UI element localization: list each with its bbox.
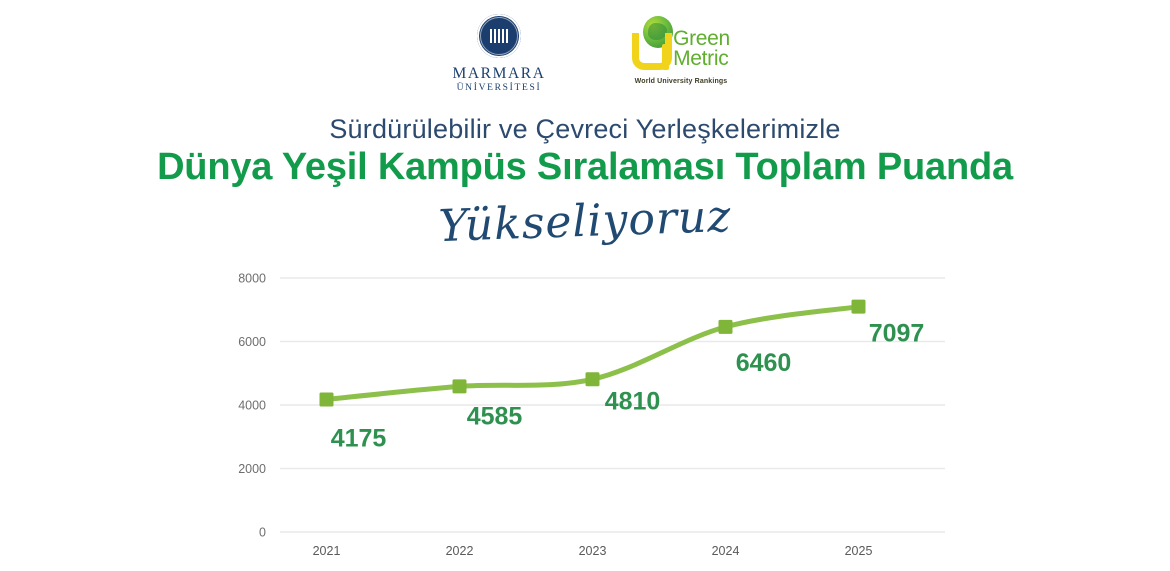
seal-emblem-icon [490,29,508,43]
ui-greenmetric-logo: Green Metric World University Rankings [616,14,746,85]
poster-canvas: MARMARA ÜNİVERSİTESİ Green Metric World … [0,0,1170,571]
chart-xtick-labels: 20212022202320242025 [313,544,873,558]
x-axis-tick-label: 2025 [845,544,873,558]
y-axis-tick-label: 4000 [238,399,266,413]
x-axis-tick-label: 2023 [579,544,607,558]
data-point-label: 4810 [605,387,661,415]
data-point-marker [453,379,467,393]
y-axis-tick-label: 6000 [238,335,266,349]
greenmetric-tagline: World University Rankings [635,78,728,85]
greenmetric-word-metric: Metric [673,49,730,68]
data-point-marker [586,372,600,386]
marmara-university-logo: MARMARA ÜNİVERSİTESİ [424,14,574,93]
chart-ytick-labels: 02000400060008000 [238,272,266,540]
x-axis-tick-label: 2022 [446,544,474,558]
chart-svg: 02000400060008000 20212022202320242025 4… [0,255,1170,571]
data-point-marker [852,300,866,314]
marmara-seal-icon [477,14,521,58]
greenmetric-ui-globe-icon [632,16,672,74]
data-point-label: 4175 [331,424,387,452]
chart-data-labels: 41754585481064607097 [331,320,925,453]
subtitle-text: Sürdürülebilir ve Çevreci Yerleşkelerimi… [0,114,1170,145]
x-axis-tick-label: 2021 [313,544,341,558]
x-axis-tick-label: 2024 [712,544,740,558]
script-accent-text: Yükseliyoruz [0,176,1170,268]
y-axis-tick-label: 8000 [238,272,266,286]
greenmetric-mark-row: Green Metric [632,16,730,74]
marmara-logo-subname: ÜNİVERSİTESİ [457,83,542,93]
data-point-marker [320,392,334,406]
y-axis-tick-label: 0 [259,526,266,540]
greenmetric-word-green: Green [673,29,730,48]
letter-i-shape [662,44,669,70]
y-axis-tick-label: 2000 [238,462,266,476]
data-point-label: 7097 [869,320,925,348]
marmara-logo-name: MARMARA [452,66,545,82]
data-point-label: 4585 [467,402,523,430]
greenmetric-wordmark: Green Metric [673,29,730,74]
logo-row: MARMARA ÜNİVERSİTESİ Green Metric World … [0,14,1170,93]
line-chart: 02000400060008000 20212022202320242025 4… [0,255,1170,571]
data-point-marker [719,320,733,334]
data-point-label: 6460 [736,349,792,377]
